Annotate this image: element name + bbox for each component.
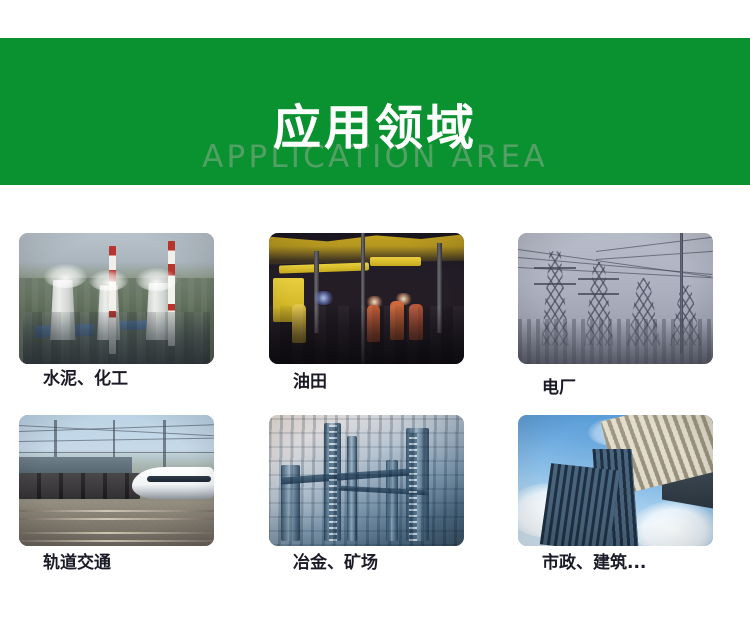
pipe-gantry [339, 486, 429, 496]
application-card-label-oil-field: 油田 [293, 374, 327, 391]
plant-building-blue-roof [105, 320, 156, 330]
application-card-rail-transit[interactable]: 轨道交通 [19, 415, 214, 546]
rail-yard-scene [19, 415, 214, 546]
power-line [596, 251, 713, 260]
refinery-tower [281, 465, 301, 541]
application-card-oil-field[interactable]: 油田 [269, 233, 464, 364]
refinery-tower [386, 460, 398, 541]
rail-track [19, 510, 214, 512]
transmission-tower [541, 251, 568, 345]
application-card-label-cement-chemical: 水泥、化工 [43, 371, 128, 388]
derrick-column-yellow [273, 278, 304, 323]
rig-worker [292, 304, 306, 343]
rail-track [19, 532, 214, 534]
application-card-label-metallurgy-mining: 冶金、矿场 [293, 555, 378, 572]
oil-rig-scene [269, 233, 464, 364]
refinery-tower [324, 423, 342, 541]
application-card-power-plant[interactable]: 电厂 [518, 233, 713, 364]
tower-crossarm [534, 283, 577, 285]
tower-crossarm [578, 293, 619, 295]
cement-chemical-plant-photo[interactable] [19, 233, 214, 364]
refinery-tower [406, 428, 429, 541]
rail-track [19, 518, 214, 520]
tower-crossarm [578, 278, 619, 280]
rig-worker [390, 301, 404, 340]
rail-track [19, 540, 214, 542]
access-ladder [409, 433, 417, 540]
rig-worker [409, 304, 423, 341]
steam-plume [89, 270, 128, 291]
application-card-metallurgy-mining[interactable]: 冶金、矿场 [269, 415, 464, 546]
transmission-tower [670, 285, 701, 345]
rig-worker [367, 305, 381, 342]
application-area-card-grid: 水泥、化工 油田 [0, 0, 750, 622]
substation-scene [518, 233, 713, 364]
power-plant-substation-photo[interactable] [518, 233, 713, 364]
application-card-cement-chemical[interactable]: 水泥、化工 [19, 233, 214, 364]
steam-plume [44, 264, 87, 288]
steam-plume [136, 268, 177, 290]
access-ladder [329, 425, 337, 540]
high-speed-train [132, 467, 214, 498]
cloud [631, 501, 713, 546]
rail-transit-photo[interactable] [19, 415, 214, 546]
pipe-gantry [281, 468, 410, 484]
plant-building-blue-roof [35, 324, 94, 338]
cement-plant-scene [19, 233, 214, 364]
rig-column [437, 243, 442, 332]
welding-flash [312, 291, 335, 305]
metallurgy-mining-photo[interactable] [269, 415, 464, 546]
application-card-municipal-construction[interactable]: 市政、建筑... [518, 415, 713, 546]
transmission-tower [627, 278, 660, 346]
transmission-tower [584, 262, 613, 346]
application-card-label-rail-transit: 轨道交通 [43, 555, 111, 572]
power-line [596, 237, 712, 252]
refinery-scene [269, 415, 464, 546]
derrick-beam-yellow [370, 257, 421, 266]
building-facade-glass [540, 464, 621, 546]
skyscraper-scene [518, 415, 713, 546]
application-card-label-power-plant: 电厂 [542, 380, 576, 397]
freight-wagons [19, 473, 140, 499]
smokestack [109, 246, 116, 353]
smokestack [168, 241, 175, 346]
tower-crossarm [534, 267, 577, 269]
rig-column [361, 233, 365, 364]
application-card-label-municipal-construction: 市政、建筑... [542, 555, 646, 572]
welding-flash [365, 296, 385, 308]
derrick-beam-yellow [279, 263, 369, 274]
refinery-tower [347, 436, 357, 541]
catenary-wire [19, 438, 214, 442]
municipal-construction-photo[interactable] [518, 415, 713, 546]
oil-field-rig-photo[interactable] [269, 233, 464, 364]
utility-pole [680, 233, 684, 354]
cooling-tower [50, 280, 75, 340]
catenary-wire [19, 452, 214, 453]
